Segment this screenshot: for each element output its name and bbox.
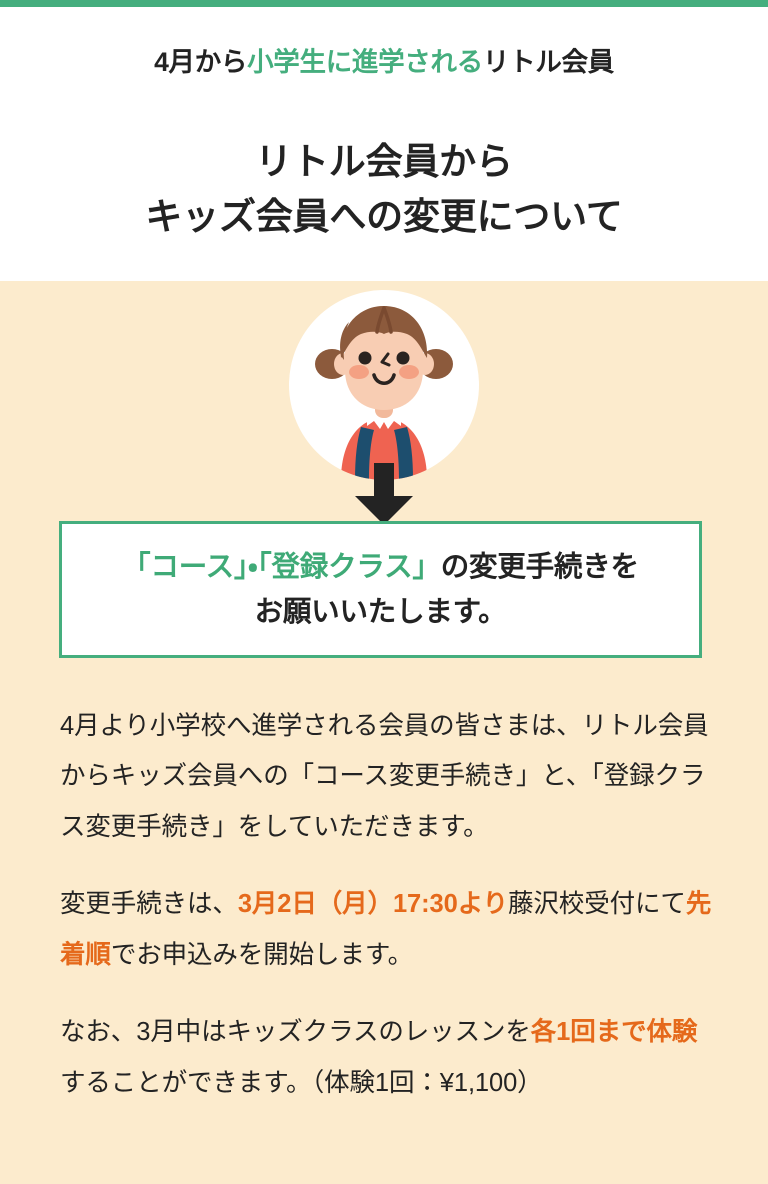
paragraph-schedule: 変更手続きは、3月2日（月）17:30より藤沢校受付にて先着順でお申込みを開始し… [60,879,720,980]
body-text: なお、3月中はキッズクラスのレッスンを [60,1018,531,1046]
down-arrow-icon [355,463,413,525]
illustration-container [289,290,479,480]
highlighted-text: 3月2日（月）17:30より [238,890,508,918]
eyebrow-accent: 小学生に進学される [247,47,483,77]
action-callout-box: 「コース」・「登録クラス」の変更手続きを お願いいたします。 [59,521,702,658]
page-title-line-1: リトル会員から [0,135,768,190]
paragraph-procedure: 4月より小学校へ進学される会員の皆さまは、リトル会員からキッズ会員への「コース変… [60,701,720,852]
eyebrow-part1: 4月から [154,47,247,77]
notice-body-text: 4月より小学校へ進学される会員の皆さまは、リトル会員からキッズ会員への「コース変… [60,701,720,1108]
top-accent-bar [0,0,768,7]
notice-page: 4月から小学生に進学されるリトル会員 リトル会員から キッズ会員への変更について [0,0,768,1184]
body-text: 藤沢校受付にて [508,890,686,918]
body-text: することができます。（体験1回：¥1,100） [60,1069,543,1097]
avatar [289,290,479,480]
body-section: 「コース」・「登録クラス」の変更手続きを お願いいたします。 4月より小学校へ進… [0,281,768,1184]
callout-line-2: お願いいたします。 [255,590,507,634]
page-title-line-2: キッズ会員への変更について [0,190,768,245]
elementary-school-girl-icon [289,290,479,480]
header-section: 4月から小学生に進学されるリトル会員 リトル会員から キッズ会員への変更について [0,7,768,281]
callout-accent-text: 「コース」・「登録クラス」 [122,551,441,583]
eyebrow-text: 4月から小学生に進学されるリトル会員 [0,46,768,79]
paragraph-trial: なお、3月中はキッズクラスのレッスンを各1回まで体験することができます。（体験1… [60,1007,720,1108]
highlighted-text: 各1回まで体験 [531,1018,697,1046]
page-title: リトル会員から キッズ会員への変更について [0,135,768,245]
body-text: 4月より小学校へ進学される会員の皆さまは、リトル会員からキッズ会員への「コース変… [60,712,709,841]
body-text: でお申込みを開始します。 [111,941,413,969]
body-text: 変更手続きは、 [60,890,238,918]
callout-rest-text: の変更手続きを [441,551,639,583]
eyebrow-part3: リトル会員 [483,47,614,77]
callout-line-1: 「コース」・「登録クラス」の変更手続きを [122,545,639,589]
